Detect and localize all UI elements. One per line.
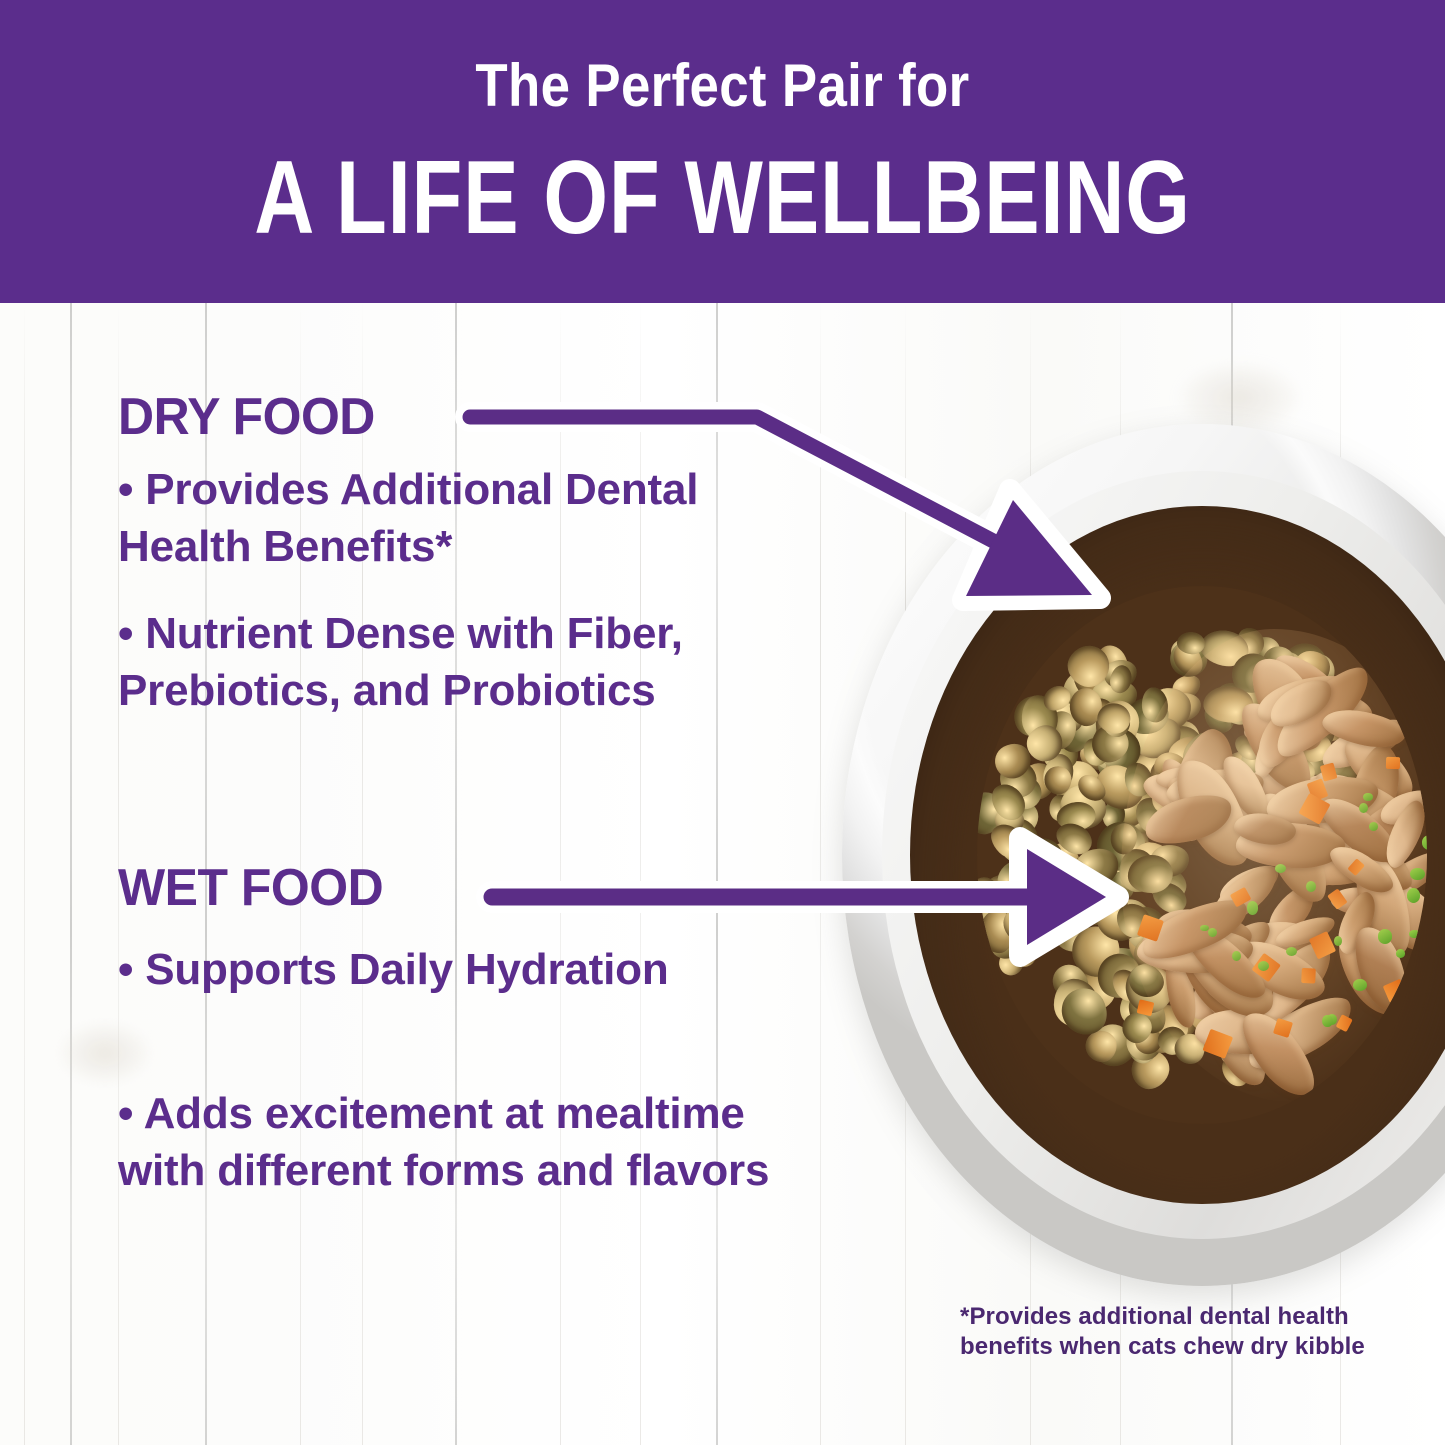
plank-seam: [70, 303, 72, 1445]
carrot-piece: [1301, 968, 1315, 983]
wood-grain: [24, 303, 25, 1445]
bowl-outer-rim: [842, 424, 1445, 1286]
header-banner: The Perfect Pair for A LIFE OF WELLBEING: [0, 0, 1445, 303]
poster-canvas: The Perfect Pair for A LIFE OF WELLBEING…: [0, 0, 1445, 1445]
pea-piece: [1353, 979, 1367, 991]
pea-piece: [1369, 822, 1378, 831]
pea-piece: [1306, 881, 1316, 892]
pea-piece: [1363, 793, 1372, 801]
dental-benefit-footnote: *Provides additional dental health benef…: [960, 1302, 1380, 1362]
bowl-food-area: [977, 586, 1426, 1124]
wood-blemish: [1180, 363, 1300, 433]
pea-piece: [1232, 951, 1241, 961]
wood-blemish: [60, 1023, 150, 1083]
pea-piece: [1422, 835, 1426, 849]
wet-food-bullet-1: • Supports Daily Hydration: [118, 941, 818, 998]
wet-food-heading: WET FOOD: [118, 858, 383, 918]
header-title: A LIFE OF WELLBEING: [145, 146, 1301, 250]
pea-piece: [1200, 925, 1208, 932]
dry-food-heading: DRY FOOD: [118, 387, 375, 447]
pea-piece: [1409, 930, 1419, 938]
carrot-piece: [1137, 999, 1155, 1016]
wood-grain: [820, 303, 821, 1445]
pea-piece: [1396, 949, 1405, 958]
carrot-piece: [1386, 756, 1400, 769]
pea-piece: [1378, 929, 1392, 943]
pea-piece: [1247, 901, 1258, 914]
header-subtitle: The Perfect Pair for: [87, 56, 1359, 116]
wet-food-bullet-2: • Adds excitement at mealtime with diffe…: [118, 1085, 818, 1199]
dry-food-bullet-2: • Nutrient Dense with Fiber, Prebiotics,…: [118, 605, 818, 719]
dry-food-bullet-1: • Provides Additional Dental Health Bene…: [118, 461, 818, 575]
cat-food-bowl-photo: [842, 424, 1445, 1286]
